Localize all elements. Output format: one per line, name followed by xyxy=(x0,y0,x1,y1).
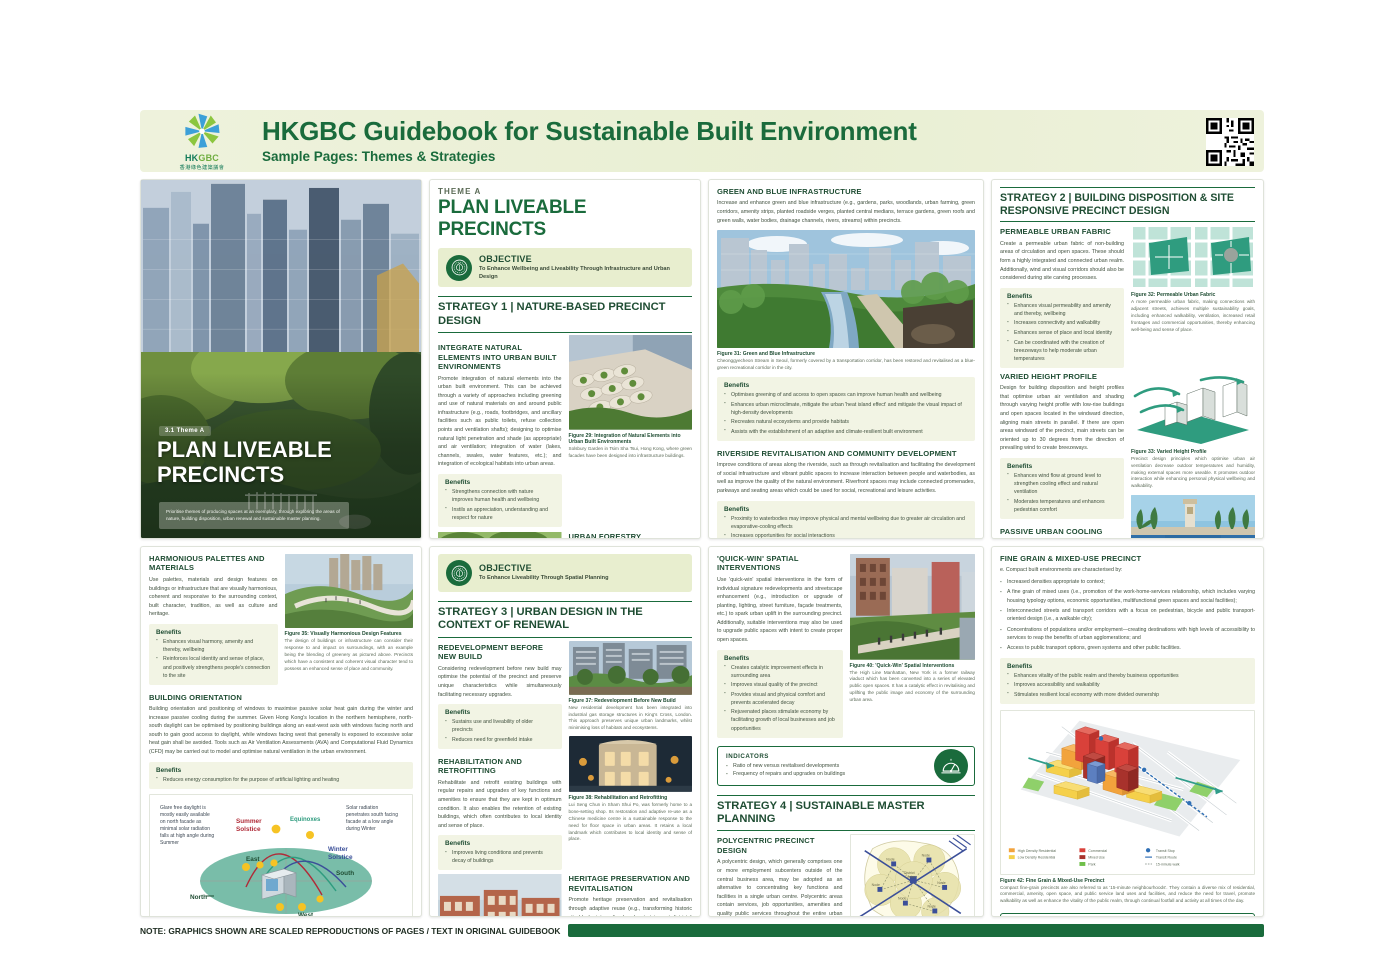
label-south: South xyxy=(336,870,354,877)
section-lead-fine-grain-mixed-use: e. Compact built environments are charac… xyxy=(1000,566,1255,575)
svg-text:on north facade as: on north facade as xyxy=(160,819,202,825)
figure-number: Figure 33: Varied Height Profile xyxy=(1131,449,1255,455)
label-summer-solstice: Summer xyxy=(236,818,262,825)
svg-text:Summer: Summer xyxy=(160,840,179,846)
panel-theme-cover: 3.1 Theme A PLAN LIVEABLE PRECINCTS Prio… xyxy=(140,179,422,539)
figure-number: Figure 31: Green and Blue Infrastructure xyxy=(717,351,975,357)
figure-34-image xyxy=(1131,495,1255,539)
label-north: North xyxy=(190,894,207,901)
figure-29-image xyxy=(569,335,693,430)
footer-note: NOTE: GRAPHICS SHOWN ARE SCALED REPRODUC… xyxy=(140,926,560,936)
content-row-bottom: HARMONIOUS PALETTES AND MATERIALS Use pa… xyxy=(140,546,1264,917)
figure-37-image xyxy=(569,641,693,695)
leaf-seal-icon xyxy=(451,565,468,582)
figure-number: Figure 40: 'Quick-Win' Spatial Intervent… xyxy=(850,663,976,669)
hkgbc-pinwheel-icon xyxy=(175,112,229,154)
section-body-heritage-preservation: Promote heritage preservation and revita… xyxy=(569,896,693,917)
benefit-item: Stimulates resilient local economy with … xyxy=(1007,691,1248,699)
benefit-item: Rejuvenated places stimulate economy by … xyxy=(724,708,836,732)
section-body-rehabilitation-retrofitting: Rehabilitate and retrofit existing build… xyxy=(438,779,562,830)
section-title-integrate-natural-elements: INTEGRATE NATURAL ELEMENTS INTO URBAN BU… xyxy=(438,343,562,371)
cover-theme-tag: 3.1 Theme A xyxy=(159,426,211,436)
objective-label: OBJECTIVE xyxy=(479,254,684,264)
section-title-rehabilitation-retrofitting: REHABILITATION AND RETROFITTING xyxy=(438,757,562,776)
solar-note-left: Glare free daylight is xyxy=(160,805,206,811)
benefit-item: Reduces energy consumption for the purpo… xyxy=(156,776,406,784)
content-row-top: 3.1 Theme A PLAN LIVEABLE PRECINCTS Prio… xyxy=(140,179,1264,539)
benefits-green-blue-infrastructure: Benefits Optimises greening of and acces… xyxy=(717,377,975,441)
logo-chinese-name: 香港綠色建築議會 xyxy=(180,164,225,171)
poster-header: HKGBC 香港綠色建築議會 HKGBC Guidebook for Susta… xyxy=(140,110,1264,172)
figure-32-caption: Figure 32: Permeable Urban Fabric A more… xyxy=(1131,292,1255,333)
indicators-label: INDICATORS xyxy=(726,753,966,760)
indicators-box-3: INDICATORS Ratio of new versus revitalis… xyxy=(717,746,975,786)
figure-38-image xyxy=(569,736,693,792)
panel-strategy-4: 'QUICK-WIN' SPATIAL INTERVENTIONS Use 'q… xyxy=(708,546,984,917)
fine-grain-bullet-list: Increased densities appropriate to conte… xyxy=(1000,578,1255,653)
benefit-item: Improves accessibility and walkability xyxy=(1007,681,1248,689)
benefit-item: Enhances visual harmony, amenity and the… xyxy=(156,638,271,654)
strategy-4-heading: STRATEGY 4 | SUSTAINABLE MASTER PLANNING xyxy=(717,795,975,832)
page-title: HKGBC Guidebook for Sustainable Built En… xyxy=(262,118,917,145)
svg-text:Transit Stop: Transit Stop xyxy=(1156,849,1175,853)
footer-accent-bar xyxy=(568,924,1264,937)
logo-gbc: GBC xyxy=(198,153,219,163)
qr-code-icon[interactable] xyxy=(1206,118,1254,166)
section-title-green-blue-infrastructure: GREEN AND BLUE INFRASTRUCTURE xyxy=(717,187,975,196)
cover-skyline-image xyxy=(141,180,421,377)
svg-text:minimal solar radiation: minimal solar radiation xyxy=(160,826,210,832)
svg-text:Commercial: Commercial xyxy=(1088,849,1107,853)
figure-29-caption: Figure 29: Integration of Natural Elemen… xyxy=(569,433,693,460)
theme-title: PLAN LIVEABLE PRECINCTS xyxy=(438,197,692,241)
label-west: West xyxy=(298,912,314,917)
benefits-heading: Benefits xyxy=(724,382,968,389)
benefits-quick-win-interventions: Benefits Creates catalytic improvement e… xyxy=(717,650,843,738)
figure-40-image xyxy=(850,554,976,660)
strategy-1-heading: STRATEGY 1 | NATURE-BASED PRECINCT DESIG… xyxy=(438,296,692,333)
benefits-heading: Benefits xyxy=(724,506,968,513)
indicator-gauge-icon xyxy=(934,749,968,783)
figure-33-caption: Figure 33: Varied Height Profile Precinc… xyxy=(1131,449,1255,490)
poster-canvas: HKGBC 香港綠色建築議會 HKGBC Guidebook for Susta… xyxy=(140,110,1264,930)
figure-37-caption: Figure 37: Redevelopment Before New Buil… xyxy=(569,698,693,733)
figure-description: The design of buildings or infrastructur… xyxy=(285,638,414,672)
benefits-riverside-revitalisation: Benefits Proximity to waterbodies may im… xyxy=(717,501,975,539)
section-title-riverside-revitalisation: RIVERSIDE REVITALISATION AND COMMUNITY D… xyxy=(717,449,975,458)
benefit-item: Proximity to waterbodies may improve phy… xyxy=(724,515,968,531)
page-subtitle: Sample Pages: Themes & Strategies xyxy=(262,149,917,164)
list-item: Increased densities appropriate to conte… xyxy=(1000,578,1255,586)
figure-35-image xyxy=(285,554,414,628)
figure-40-caption: Figure 40: 'Quick-Win' Spatial Intervent… xyxy=(850,663,976,704)
section-body-permeable-urban-fabric: Create a permeable urban fabric of non-b… xyxy=(1000,240,1124,283)
figure-number: Figure 42: Fine Grain & Mixed-Use Precin… xyxy=(1000,878,1255,884)
benefits-heading: Benefits xyxy=(445,709,555,716)
panel-theme-a-strategy-1: THEME A PLAN LIVEABLE PRECINCTS OBJECTIV… xyxy=(429,179,701,539)
objective-text: To Enhance Wellbeing and Liveability Thr… xyxy=(479,265,684,281)
benefit-item: Increases connectivity and walkability xyxy=(1007,319,1117,327)
benefits-heading: Benefits xyxy=(1007,663,1248,670)
figure-description: Precinct design principles which optimis… xyxy=(1131,456,1255,490)
figure-description: Lui Seng Chun in Sham Shui Po, was forme… xyxy=(569,802,693,843)
theme-kicker: THEME A xyxy=(438,187,692,196)
svg-text:High Density Residential: High Density Residential xyxy=(1018,849,1057,853)
section-body-building-orientation: Building orientation and positioning of … xyxy=(149,705,413,756)
benefit-item: Can be coordinated with the creation of … xyxy=(1007,339,1117,363)
strategy-3-heading: STRATEGY 3 | URBAN DESIGN IN THE CONTEXT… xyxy=(438,601,692,638)
benefits-heading: Benefits xyxy=(156,767,406,774)
figure-description: Cheonggyecheon Stream in Seoul, formerly… xyxy=(717,358,975,372)
section-body-quick-win-interventions: Use 'quick-win' spatial interventions in… xyxy=(717,576,843,645)
benefit-item: Reduces need for greenfield intake xyxy=(445,736,555,744)
panel-strategy-3: OBJECTIVE To Enhance Liveability Through… xyxy=(429,546,701,917)
section-title-heritage-preservation: HERITAGE PRESERVATION AND REVITALISATION xyxy=(569,874,693,893)
svg-text:Solstice: Solstice xyxy=(328,854,353,861)
benefits-harmonious-palettes: Benefits Enhances visual harmony, amenit… xyxy=(149,624,278,685)
section-title-varied-height-profile: VARIED HEIGHT PROFILE xyxy=(1000,372,1124,381)
svg-text:Node: Node xyxy=(898,897,906,901)
figure-number: Figure 37: Redevelopment Before New Buil… xyxy=(569,698,693,704)
benefits-heading: Benefits xyxy=(445,479,555,486)
section-body-varied-height-profile: Design for building disposition and heig… xyxy=(1000,384,1124,453)
figure-description: Solsbury Garden in Tsim Sha Tsui, Hong K… xyxy=(569,446,693,460)
benefits-heading: Benefits xyxy=(445,840,555,847)
benefit-item: Reinforces local identity and sense of p… xyxy=(156,655,271,679)
benefit-item: Strengthens connection with nature impro… xyxy=(445,488,555,504)
benefit-item: Provides visual and physical comfort and… xyxy=(724,691,836,707)
figure-number: Figure 35: Visually Harmonious Design Fe… xyxy=(285,631,414,637)
benefit-item: Improves visual quality of the precinct xyxy=(724,681,836,689)
benefit-item: Enhances urban microclimate, mitigate th… xyxy=(724,401,968,417)
benefits-redevelopment-before-new-build: Benefits Sustains use and liveability of… xyxy=(438,704,562,749)
benefits-heading: Benefits xyxy=(724,655,836,662)
figure-42-caption: Figure 42: Fine Grain & Mixed-Use Precin… xyxy=(1000,878,1255,906)
panel-green-blue-infrastructure: GREEN AND BLUE INFRASTRUCTURE Increase a… xyxy=(708,179,984,539)
indicator-item: Frequency of repairs and upgrades on bui… xyxy=(726,770,966,778)
figure-32-diagram xyxy=(1131,225,1255,289)
figure-41-polycentric-diagram: DistrictCentre NodeNode NodeNode NodeNod… xyxy=(850,834,976,917)
figure-description: A more permeable urban fabric, making co… xyxy=(1131,299,1255,333)
benefit-item: Instils an appreciation, understanding a… xyxy=(445,506,555,522)
solar-note-right: Solar radiation xyxy=(346,805,378,811)
label-east: East xyxy=(246,856,260,863)
label-winter-solstice: Winter xyxy=(328,846,348,853)
benefits-heading: Benefits xyxy=(1007,463,1117,470)
svg-text:Mixed Use: Mixed Use xyxy=(1088,855,1105,859)
objective-seal-icon xyxy=(446,560,472,586)
section-body-riverside-revitalisation: Improve conditions of areas along the ri… xyxy=(717,461,975,495)
list-item: Access to public transport options, gree… xyxy=(1000,644,1255,652)
indicator-gauge-icon xyxy=(1214,916,1248,917)
benefit-item: Enhances vitality of the public realm an… xyxy=(1007,672,1248,680)
benefits-varied-height-profile: Benefits Enhances wind flow at ground le… xyxy=(1000,458,1124,519)
figure-number: Figure 32: Permeable Urban Fabric xyxy=(1131,292,1255,298)
section-title-urban-forestry: URBAN FORESTRY xyxy=(569,532,693,539)
benefit-item: Enhances wind flow at ground level to st… xyxy=(1007,472,1117,496)
benefit-item: Increases opportunities for social inter… xyxy=(724,532,968,539)
indicator-item: Ratio of new versus revitalised developm… xyxy=(726,762,966,770)
objective-seal-icon xyxy=(446,255,472,281)
objective-box-1: OBJECTIVE To Enhance Wellbeing and Livea… xyxy=(438,248,692,287)
figure-number: Figure 29: Integration of Natural Elemen… xyxy=(569,433,693,445)
cover-description: Prioritise themes of producing spaces at… xyxy=(159,502,349,529)
logo-hk: HK xyxy=(185,153,198,163)
svg-text:during Winter: during Winter xyxy=(346,826,376,832)
strategy-2-heading: STRATEGY 2 | BUILDING DISPOSITION & SITE… xyxy=(1000,187,1255,222)
svg-text:Node: Node xyxy=(871,883,879,887)
svg-text:15-minute walk: 15-minute walk xyxy=(1156,862,1180,866)
svg-text:falls at high angle during: falls at high angle during xyxy=(160,833,214,839)
section-title-passive-urban-cooling: PASSIVE URBAN COOLING xyxy=(1000,527,1124,536)
svg-text:Node: Node xyxy=(921,854,929,858)
svg-text:Node: Node xyxy=(886,858,894,862)
benefit-item: Sustains use and liveability of older pr… xyxy=(445,718,555,734)
list-item: Interconnected streets and transport cor… xyxy=(1000,607,1255,624)
benefit-item: Enhances visual permeability and amenity… xyxy=(1007,302,1117,318)
benefit-item: Optimises greening of and access to open… xyxy=(724,391,968,399)
panel-harmonious-palettes: HARMONIOUS PALETTES AND MATERIALS Use pa… xyxy=(140,546,422,917)
indicators-box-4: INDICATORS Walking distance to key funct… xyxy=(1000,913,1255,917)
figure-number: Figure 38: Rehabilitation and Retrofitti… xyxy=(569,795,693,801)
figure-39-image xyxy=(438,874,562,917)
cover-artwork: 3.1 Theme A PLAN LIVEABLE PRECINCTS Prio… xyxy=(141,180,421,538)
section-title-polycentric-precinct-design: POLYCENTRIC PRECINCT DESIGN xyxy=(717,836,843,855)
logo-wordmark: HKGBC xyxy=(185,154,219,163)
benefit-item: Creates catalytic improvement effects in… xyxy=(724,664,836,680)
svg-text:Solstice: Solstice xyxy=(236,826,261,833)
leaf-seal-icon xyxy=(451,259,468,276)
benefits-fine-grain-mixed-use: Benefits Enhances vitality of the public… xyxy=(1000,658,1255,704)
benefits-heading: Benefits xyxy=(156,629,271,636)
benefit-item: Moderates temperatures and enhances pede… xyxy=(1007,498,1117,514)
figure-31-image xyxy=(717,230,975,348)
cover-title: PLAN LIVEABLE PRECINCTS xyxy=(157,438,397,487)
figure-description: The High Line Manhattan, New York is a f… xyxy=(850,670,976,704)
svg-text:Node: Node xyxy=(927,905,935,909)
benefits-integrate-natural-elements: Benefits Strengthens connection with nat… xyxy=(438,474,562,527)
list-item: A fine grain of mixed uses (i.e., promot… xyxy=(1000,588,1255,605)
figure-description: New residential development has been int… xyxy=(569,705,693,733)
section-title-quick-win-interventions: 'QUICK-WIN' SPATIAL INTERVENTIONS xyxy=(717,554,843,573)
section-title-harmonious-palettes: HARMONIOUS PALETTES AND MATERIALS xyxy=(149,554,278,573)
benefits-heading: Benefits xyxy=(1007,293,1117,300)
list-item: Concentrations of populations and/or emp… xyxy=(1000,626,1255,643)
svg-text:mostly easily available: mostly easily available xyxy=(160,812,210,818)
panel-fine-grain-mixed-use: FINE GRAIN & MIXED-USE PRECINCT e. Compa… xyxy=(991,546,1264,917)
objective-label: OBJECTIVE xyxy=(479,563,609,573)
figure-31-caption: Figure 31: Green and Blue Infrastructure… xyxy=(717,351,975,372)
section-body-integrate-natural-elements: Promote integration of natural elements … xyxy=(438,375,562,469)
section-body-redevelopment-before-new-build: Considering redevelopment before new bui… xyxy=(438,665,562,699)
section-body-harmonious-palettes: Use palettes, materials and design featu… xyxy=(149,576,278,619)
label-equinoxes: Equinoxes xyxy=(290,817,321,823)
section-body-polycentric-precinct-design: A polycentric design, which generally co… xyxy=(717,858,843,917)
section-title-fine-grain-mixed-use: FINE GRAIN & MIXED-USE PRECINCT xyxy=(1000,554,1255,563)
objective-box-2: OBJECTIVE To Enhance Liveability Through… xyxy=(438,554,692,592)
figure-33-diagram xyxy=(1131,372,1255,446)
figure-36-solar-diagram: Glare free daylight is mostly easily ava… xyxy=(149,794,413,917)
section-body-green-blue-infrastructure: Increase and enhance green and blue infr… xyxy=(717,199,975,225)
benefits-permeable-urban-fabric: Benefits Enhances visual permeability an… xyxy=(1000,288,1124,368)
poster-footer: NOTE: GRAPHICS SHOWN ARE SCALED REPRODUC… xyxy=(140,924,1264,937)
svg-text:Park: Park xyxy=(1088,862,1095,866)
header-titles: HKGBC Guidebook for Sustainable Built En… xyxy=(262,118,917,163)
objective-text: To Enhance Liveability Through Spatial P… xyxy=(479,574,609,582)
figure-35-caption: Figure 35: Visually Harmonious Design Fe… xyxy=(285,631,414,672)
benefits-building-orientation: Benefits Reduces energy consumption for … xyxy=(149,762,413,789)
panel-strategy-2: STRATEGY 2 | BUILDING DISPOSITION & SITE… xyxy=(991,179,1264,539)
benefit-item: Recreates natural ecosystems and provide… xyxy=(724,418,968,426)
svg-text:penetrates south facing: penetrates south facing xyxy=(346,812,398,818)
benefit-item: Enhances sense of place and local identi… xyxy=(1007,329,1117,337)
figure-30-image xyxy=(438,532,562,539)
figure-38-caption: Figure 38: Rehabilitation and Retrofitti… xyxy=(569,795,693,843)
figure-description: Compact fine-grain precincts are also re… xyxy=(1000,885,1255,906)
svg-text:Node: Node xyxy=(937,881,945,885)
section-title-redevelopment-before-new-build: REDEVELOPMENT BEFORE NEW BUILD xyxy=(438,643,562,662)
svg-text:Centre: Centre xyxy=(904,876,915,880)
svg-text:Low Density Residential: Low Density Residential xyxy=(1018,855,1056,859)
benefit-item: Improves living conditions and prevents … xyxy=(445,849,555,865)
section-title-building-orientation: BUILDING ORIENTATION xyxy=(149,693,413,702)
hkgbc-logo: HKGBC 香港綠色建築議會 xyxy=(148,112,256,171)
figure-42-axonometric-diagram: High Density Residential Low Density Res… xyxy=(1000,710,1255,875)
gauge-icon xyxy=(940,755,962,777)
svg-text:Transit Route: Transit Route xyxy=(1156,855,1177,859)
benefit-item: Assists with the establishment of an ada… xyxy=(724,428,968,436)
benefits-rehabilitation-retrofitting: Benefits Improves living conditions and … xyxy=(438,835,562,870)
svg-text:facade at a low angle: facade at a low angle xyxy=(346,819,393,825)
section-title-permeable-urban-fabric: PERMEABLE URBAN FABRIC xyxy=(1000,227,1124,236)
